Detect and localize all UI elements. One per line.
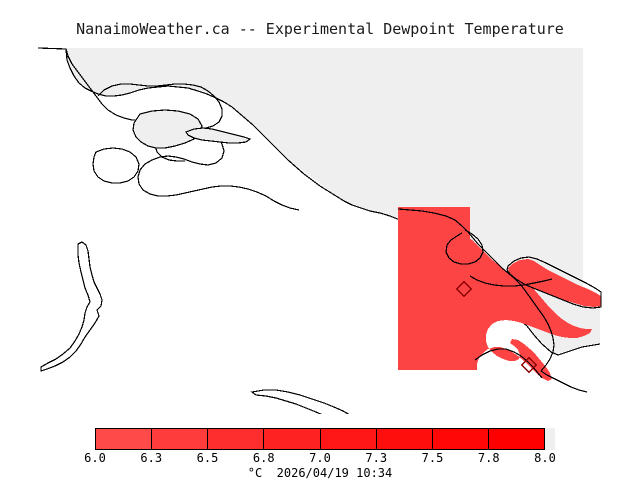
colorbar-segment-1[interactable] <box>152 429 208 449</box>
colorbar-tick-6: 7.5 <box>422 451 444 465</box>
colorbar-tick-7: 7.8 <box>478 451 500 465</box>
colorbar-segment-5[interactable] <box>377 429 433 449</box>
coastline-inlet-detail <box>93 148 139 183</box>
colorbar-caption: °C 2026/04/19 10:34 <box>0 466 640 480</box>
colorbar-segment-0[interactable] <box>96 429 152 449</box>
map-panel[interactable] <box>0 44 640 414</box>
colorbar-segment-7[interactable] <box>489 429 544 449</box>
elongated-island-lower <box>252 390 410 414</box>
colorbar-section: 6.06.36.56.87.07.37.57.88.0 °C 2026/04/1… <box>0 424 640 480</box>
colorbar-tick-2: 6.5 <box>197 451 219 465</box>
colorbar[interactable] <box>95 428 545 450</box>
page-title: NanaimoWeather.ca -- Experimental Dewpoi… <box>0 20 640 38</box>
inland-island-upper-tail <box>186 128 250 143</box>
colorbar-tick-4: 7.0 <box>309 451 331 465</box>
sliver-island-left <box>41 242 102 371</box>
colorbar-tick-8: 8.0 <box>534 451 556 465</box>
inland-island-upper <box>133 110 202 148</box>
dewpoint-fill-body <box>398 207 470 370</box>
colorbar-segment-2[interactable] <box>208 429 264 449</box>
colorbar-tick-labels: 6.06.36.56.87.07.37.57.88.0 <box>0 451 640 467</box>
colorbar-segment-4[interactable] <box>321 429 377 449</box>
colorbar-tick-1: 6.3 <box>140 451 162 465</box>
colorbar-segment-6[interactable] <box>433 429 489 449</box>
colorbar-tick-3: 6.8 <box>253 451 275 465</box>
colorbar-tick-5: 7.3 <box>365 451 387 465</box>
weather-map[interactable] <box>0 44 640 414</box>
colorbar-segment-3[interactable] <box>264 429 320 449</box>
colorbar-tick-0: 6.0 <box>84 451 106 465</box>
